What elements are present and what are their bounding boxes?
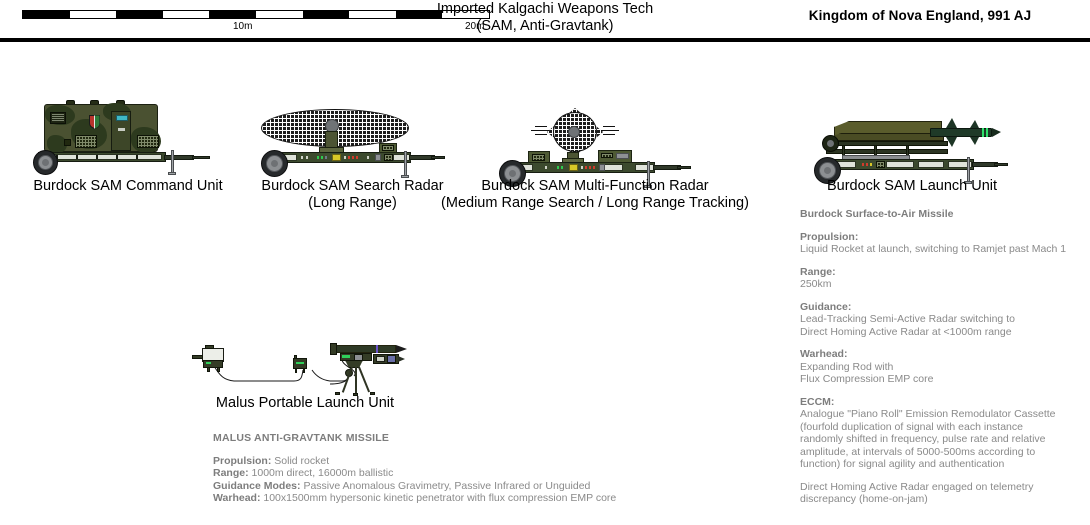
caption-line1: Malus Portable Launch Unit xyxy=(216,395,394,411)
scale-segment xyxy=(303,11,350,18)
tube-rear-ring-center xyxy=(827,140,834,147)
shelter-door[interactable] xyxy=(111,111,131,151)
portable-missile-nose xyxy=(396,345,407,353)
antenna-spike xyxy=(535,134,547,135)
unit-portable-caption: Malus Portable Launch Unit xyxy=(160,395,450,412)
malus-propulsion-label: Propulsion: xyxy=(213,455,271,467)
unit-launch-illustration: Burdock SAM Launch Unit xyxy=(812,105,1012,175)
generator-grille xyxy=(382,145,394,151)
command-shelter-body xyxy=(44,104,158,152)
equipment-grille xyxy=(75,135,97,148)
antenna-spike xyxy=(601,130,619,131)
caption-line1: Burdock SAM Search Radar xyxy=(261,178,443,194)
trailer-side-rail xyxy=(603,164,623,171)
sam-eccm-value-line2: (fourfold duplication of signal with eac… xyxy=(800,421,1085,434)
rail-post xyxy=(76,155,78,159)
antenna-spike xyxy=(531,130,549,131)
wheel-hub-center xyxy=(824,167,831,174)
control-unit-leg xyxy=(207,367,210,372)
side-canister-tip xyxy=(398,356,405,362)
sam-guidance-value-line2: Direct Homing Active Radar at <1000m ran… xyxy=(800,326,1085,339)
sensor-pod-leg xyxy=(303,369,305,373)
antenna-spike xyxy=(603,134,615,135)
sheet-header: 10m 20m Imported Kalgachi Weapons Tech (… xyxy=(0,0,1090,40)
caption-line1: Burdock SAM Launch Unit xyxy=(827,178,997,194)
caption-line1: Burdock SAM Multi-Function Radar xyxy=(481,178,708,194)
sam-propulsion-group: Propulsion: Liquid Rocket at launch, swi… xyxy=(800,231,1085,256)
sam-spec-title-group: Burdock Surface-to-Air Missile xyxy=(800,208,1085,221)
sheet-title-line1: Imported Kalgachi Weapons Tech xyxy=(380,1,710,18)
missile-fin-lower xyxy=(946,137,957,147)
sam-guidance-group: Guidance: Lead-Tracking Semi-Active Rada… xyxy=(800,301,1085,339)
trailer-hitch xyxy=(994,163,1008,166)
sam-warhead-group: Warhead: Expanding Rod with Flux Compres… xyxy=(800,348,1085,386)
unit-mf-radar-illustration: Burdock SAM Multi-Function Radar (Medium… xyxy=(495,100,695,175)
trailer-side-rail xyxy=(918,161,944,168)
bed-marker xyxy=(367,156,369,159)
wheel-hub-center xyxy=(509,170,516,177)
trailer-tongue xyxy=(164,155,194,160)
launcher-sight-optic xyxy=(354,354,363,361)
malus-guidance-value: Passive Anomalous Gravimetry, Passive In… xyxy=(303,480,590,492)
malus-propulsion-row: Propulsion: Solid rocket xyxy=(213,455,673,468)
unit-command-caption: Burdock SAM Command Unit xyxy=(0,178,256,195)
malus-spec-rows: Propulsion: Solid rocket Range: 1000m di… xyxy=(213,455,673,505)
sam-guidance-value-line1: Lead-Tracking Semi-Active Radar switchin… xyxy=(800,313,1085,326)
antenna-spike xyxy=(603,126,615,127)
malus-guidance-label: Guidance Modes: xyxy=(213,480,301,492)
status-led-grey xyxy=(325,156,327,159)
wheel-hub-center xyxy=(42,159,49,166)
sensor-pod-leg xyxy=(295,369,297,373)
sam-eccm-group: ECCM: Analogue "Piano Roll" Emission Rem… xyxy=(800,396,1085,471)
scale-segment xyxy=(209,11,256,18)
sam-warhead-value-line2: Flux Compression EMP core xyxy=(800,373,1085,386)
malus-warhead-value: 100x1500mm hypersonic kinetic penetrator… xyxy=(263,492,616,504)
missile-canard-lower xyxy=(970,137,979,145)
control-unit-leg xyxy=(217,367,220,372)
sam-eccm-note-group: Direct Homing Active Radar engaged on te… xyxy=(800,481,1085,506)
launcher-sight-lens xyxy=(342,355,350,358)
status-led-red xyxy=(866,163,868,166)
trailer-jack-foot xyxy=(168,172,176,175)
sam-eccm-value-line5: function) for signal agility and authent… xyxy=(800,458,1085,471)
malus-warhead-label: Warhead: xyxy=(213,492,260,504)
status-led-yellow xyxy=(870,163,872,166)
equipment-grille xyxy=(137,135,159,148)
sam-eccm-value-line1: Analogue "Piano Roll" Emission Remodulat… xyxy=(800,408,1085,421)
scale-segment xyxy=(163,11,210,18)
control-grille xyxy=(876,161,885,168)
unit-portable-illustration: Malus Portable Launch Unit xyxy=(190,340,420,405)
antenna-feed-hub xyxy=(568,126,580,138)
trailer-jack[interactable] xyxy=(171,150,174,174)
malus-guidance-row: Guidance Modes: Passive Anomalous Gravim… xyxy=(213,480,673,493)
launch-tube-marker xyxy=(376,345,378,353)
sam-propulsion-label: Propulsion: xyxy=(800,231,1085,244)
sam-range-group: Range: 250km xyxy=(800,266,1085,291)
sam-guidance-label: Guidance: xyxy=(800,301,1085,314)
sensor-pod-antenna xyxy=(294,355,297,359)
missile-band xyxy=(986,128,988,137)
status-led-green xyxy=(557,166,559,169)
equipment-grille xyxy=(532,154,545,161)
warning-placard xyxy=(569,164,578,171)
portable-launch-tube xyxy=(332,345,396,353)
bed-marker xyxy=(301,156,303,159)
status-led-red xyxy=(593,166,595,169)
status-led-red xyxy=(356,156,358,159)
caption-line1: Burdock SAM Command Unit xyxy=(33,178,222,194)
malus-range-row: Range: 1000m direct, 16000m ballistic xyxy=(213,467,673,480)
generator-panel xyxy=(616,153,629,159)
antenna-spike xyxy=(535,126,547,127)
missile-nose-cone xyxy=(992,128,1001,137)
equipment-grille xyxy=(384,154,393,161)
malus-propulsion-value: Solid rocket xyxy=(274,455,329,467)
status-led-red xyxy=(589,166,591,169)
bed-marker xyxy=(344,156,346,159)
launch-tube-lower xyxy=(830,133,944,141)
trailer-hitch xyxy=(677,166,691,169)
malus-spec-title-group: MALUS ANTI-GRAVTANK MISSILE xyxy=(213,432,673,445)
rail-post xyxy=(96,155,98,159)
control-unit-lid xyxy=(205,345,214,349)
trailer-jack[interactable] xyxy=(404,151,407,177)
louvre-vent-icon xyxy=(50,112,66,124)
unit-launch-caption: Burdock SAM Launch Unit xyxy=(787,178,1037,195)
missile-band xyxy=(982,128,984,137)
sam-specifications: Burdock Surface-to-Air Missile Propulsio… xyxy=(800,208,1085,506)
sheet-title: Imported Kalgachi Weapons Tech (SAM, Ant… xyxy=(380,1,710,35)
status-led-red xyxy=(585,166,587,169)
trailer-hitch xyxy=(431,156,445,159)
sam-propulsion-value: Liquid Rocket at launch, switching to Ra… xyxy=(800,243,1085,256)
malus-specifications: MALUS ANTI-GRAVTANK MISSILE Propulsion: … xyxy=(213,432,673,505)
rail-post xyxy=(136,155,138,159)
malus-range-value: 1000m direct, 16000m ballistic xyxy=(252,467,394,479)
sam-eccm-value-line4: amplitude, at intervals of 5000-500ms ac… xyxy=(800,446,1085,459)
status-led-red xyxy=(352,156,354,159)
malus-spec-title: MALUS ANTI-GRAVTANK MISSILE xyxy=(213,432,673,445)
sam-eccm-note-line2: discrepancy (home-on-jam) xyxy=(800,493,1085,506)
status-led-red xyxy=(862,163,864,166)
scale-segment xyxy=(70,11,117,18)
caption-line2: (Medium Range Search / Long Range Tracki… xyxy=(425,195,765,212)
scale-segment xyxy=(116,11,163,18)
bed-access-panel xyxy=(375,154,381,161)
sam-warhead-value-line1: Expanding Rod with xyxy=(800,361,1085,374)
unit-command-illustration: Burdock SAM Command Unit xyxy=(28,100,228,175)
sam-eccm-label: ECCM: xyxy=(800,396,1085,409)
status-led-green xyxy=(561,166,563,169)
status-led-green xyxy=(321,156,323,159)
side-canister-unit xyxy=(387,355,396,363)
tube-breech xyxy=(330,343,337,355)
missile-canard-upper xyxy=(970,120,979,128)
unit-search-radar-illustration: Burdock SAM Search Radar (Long Range) xyxy=(255,105,450,175)
door-window xyxy=(116,115,128,121)
control-unit-led xyxy=(206,362,211,364)
wheel-hub-center xyxy=(271,160,278,167)
malus-range-label: Range: xyxy=(213,467,249,479)
missile-fin-upper xyxy=(946,118,957,128)
sam-warhead-label: Warhead: xyxy=(800,348,1085,361)
status-led-red xyxy=(348,156,350,159)
bed-marker xyxy=(581,166,583,169)
sam-eccm-value-line3: randomly shifted in frequency, pulse rat… xyxy=(800,433,1085,446)
sheet-title-line2: (SAM, Anti-Gravtank) xyxy=(380,18,710,35)
small-hatch xyxy=(64,139,71,146)
header-divider xyxy=(0,38,1090,42)
side-canister-panel xyxy=(376,356,385,362)
trailer-side-rail xyxy=(886,161,914,168)
bed-marker xyxy=(306,156,308,159)
bed-access-panel xyxy=(599,164,605,171)
bed-marker xyxy=(545,166,547,169)
trailer-hitch xyxy=(192,156,210,159)
generator-grille xyxy=(601,153,613,158)
status-led-green xyxy=(317,156,319,159)
rail-post xyxy=(116,155,118,159)
sam-range-value: 250km xyxy=(800,278,1085,291)
malus-warhead-row: Warhead: 100x1500mm hypersonic kinetic p… xyxy=(213,492,673,505)
scale-segment xyxy=(256,11,303,18)
shield-emblem-icon xyxy=(89,115,100,129)
sam-range-label: Range: xyxy=(800,266,1085,279)
sam-spec-title: Burdock Surface-to-Air Missile xyxy=(800,208,1085,221)
sam-eccm-note-line1: Direct Homing Active Radar engaged on te… xyxy=(800,481,1085,494)
trailer-side-rail xyxy=(42,154,162,160)
door-handle[interactable] xyxy=(118,128,125,131)
control-unit-handle[interactable] xyxy=(192,355,203,359)
warning-placard xyxy=(332,154,341,161)
trailer-side-rail xyxy=(635,164,655,171)
scale-segment xyxy=(23,11,70,18)
sheet-origin: Kingdom of Nova England, 991 AJ xyxy=(760,8,1080,23)
unit-mf-radar-caption: Burdock SAM Multi-Function Radar (Medium… xyxy=(425,178,765,212)
sensor-pod-window xyxy=(296,362,304,364)
tripod-leg xyxy=(355,367,357,395)
scale-label-10m: 10m xyxy=(233,22,252,32)
